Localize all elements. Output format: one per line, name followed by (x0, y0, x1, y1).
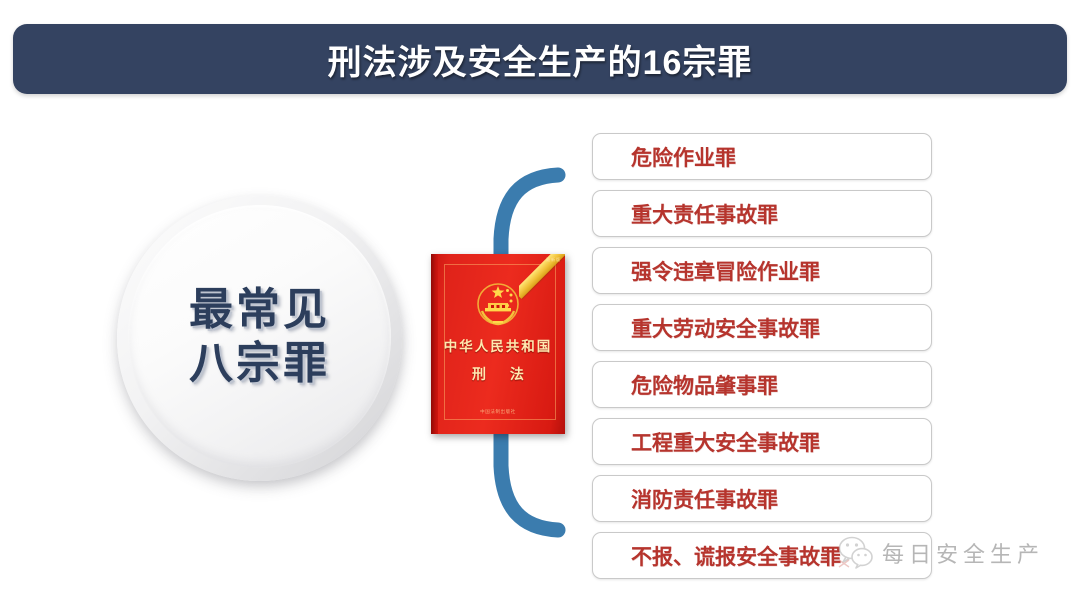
crime-item-2[interactable]: 重大责任事故罪 (592, 190, 932, 237)
crime-label: 消防责任事故罪 (593, 484, 778, 514)
wechat-icon (836, 533, 876, 573)
crime-label: 强令违章冒险作业罪 (593, 256, 820, 286)
crime-item-5[interactable]: 危险物品肇事罪 (592, 361, 932, 408)
book-title-line1: 中华人民共和国 (431, 340, 565, 354)
crime-label: 不报、谎报安全事故罪 (593, 541, 841, 571)
watermark-label: 每日安全生产 (882, 537, 1044, 569)
corner-badge-label: 最新版 (546, 257, 561, 263)
page-title: 刑法涉及安全生产的16宗罪 (328, 35, 753, 84)
crime-label: 危险物品肇事罪 (593, 370, 778, 400)
national-emblem-icon (472, 281, 524, 329)
crime-item-3[interactable]: 强令违章冒险作业罪 (592, 247, 932, 294)
crime-list: 危险作业罪 重大责任事故罪 强令违章冒险作业罪 重大劳动安全事故罪 危险物品肇事… (592, 133, 932, 589)
circle-inner-face: 最常见 八宗罪 (128, 205, 391, 468)
crime-label: 重大劳动安全事故罪 (593, 313, 820, 343)
slide-title-banner: 刑法涉及安全生产的16宗罪 (13, 24, 1067, 94)
crime-label: 重大责任事故罪 (593, 199, 778, 229)
criminal-law-book: 最新版 中华人民共和国 刑 法 中国法制出版社 (431, 254, 565, 434)
book-title-line2: 刑 法 (431, 364, 565, 384)
circle-outer-ring: 最常见 八宗罪 (117, 196, 402, 481)
circle-label-line1: 最常见 (189, 283, 330, 337)
crime-item-6[interactable]: 工程重大安全事故罪 (592, 418, 932, 465)
watermark: 每日安全生产 (836, 533, 1044, 573)
circle-label-line2: 八宗罪 (189, 337, 330, 391)
book-publisher: 中国法制出版社 (431, 409, 565, 415)
crime-label: 工程重大安全事故罪 (593, 427, 820, 457)
highlight-circle: 最常见 八宗罪 (117, 196, 402, 481)
crime-item-4[interactable]: 重大劳动安全事故罪 (592, 304, 932, 351)
crime-item-7[interactable]: 消防责任事故罪 (592, 475, 932, 522)
crime-item-1[interactable]: 危险作业罪 (592, 133, 932, 180)
crime-label: 危险作业罪 (593, 142, 736, 172)
book-corner-ribbon: 最新版 (519, 254, 565, 300)
